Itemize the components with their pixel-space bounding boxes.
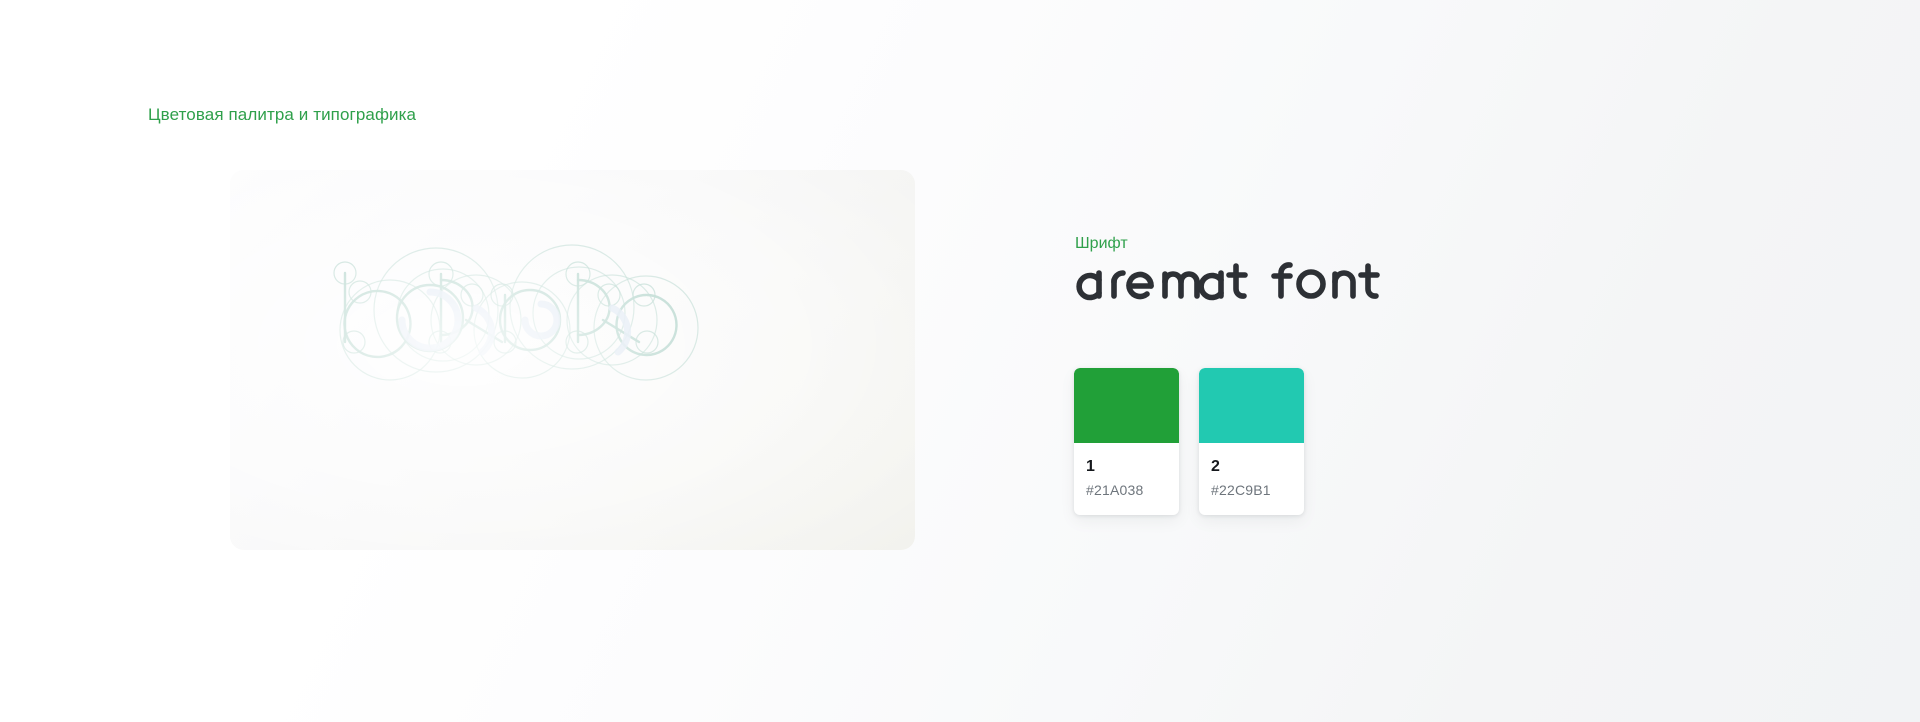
color-palette-list: 1 #21A038 2 #22C9B1 (1074, 368, 1304, 515)
color-hex-value: #21A038 (1086, 482, 1167, 499)
color-index: 1 (1086, 457, 1167, 476)
color-swatch-card[interactable]: 2 #22C9B1 (1199, 368, 1304, 515)
page-title: Цветовая палитра и типографика (148, 104, 416, 126)
color-hex-value: #22C9B1 (1211, 482, 1292, 499)
logo-construction-panel (230, 170, 915, 550)
color-chip (1199, 368, 1304, 443)
color-index: 2 (1211, 457, 1292, 476)
font-section-label: Шрифт (1075, 234, 1128, 254)
page-canvas: Цветовая палитра и типографика (0, 0, 1920, 722)
color-meta: 2 #22C9B1 (1199, 443, 1304, 515)
color-meta: 1 #21A038 (1074, 443, 1179, 515)
font-sample (1073, 258, 1393, 306)
logo-construction-grid-svg (230, 170, 915, 550)
color-swatch-card[interactable]: 1 #21A038 (1074, 368, 1179, 515)
color-chip (1074, 368, 1179, 443)
construction-circles-large (340, 245, 698, 380)
font-sample-svg (1073, 258, 1393, 306)
